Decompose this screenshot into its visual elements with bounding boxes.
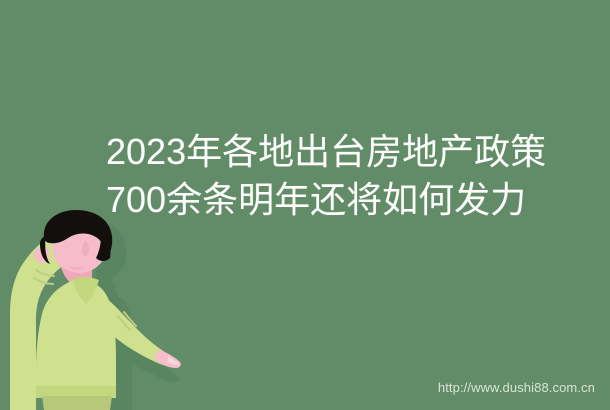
page-title: 2023年各地出台房地产政策700余条明年还将如何发力	[106, 128, 566, 224]
person-illustration	[0, 210, 200, 410]
article-cover-image: 2023年各地出台房地产政策700余条明年还将如何发力 http://www.d…	[0, 0, 610, 410]
pants	[42, 396, 112, 410]
watermark-url: http://www.dushi88.com.cn	[438, 380, 595, 396]
person-illustration-svg	[0, 210, 200, 410]
